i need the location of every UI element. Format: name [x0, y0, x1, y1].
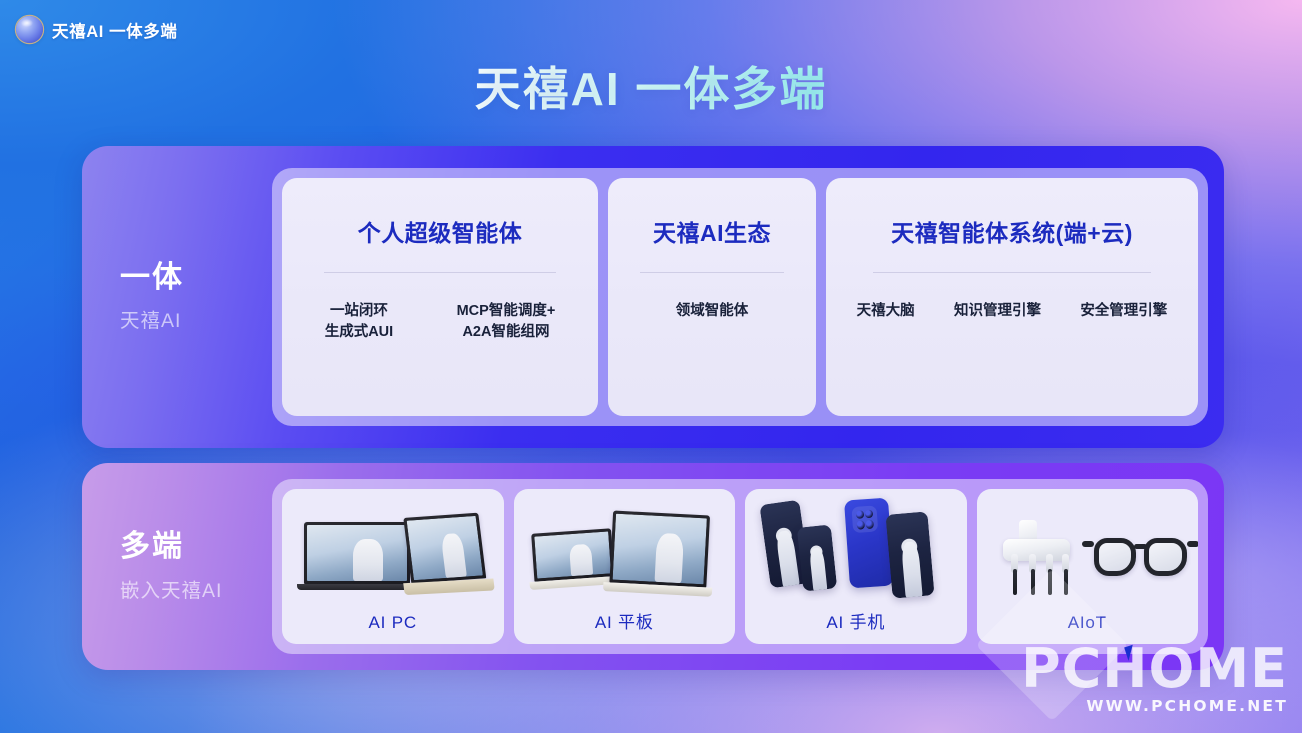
feature-card-items: 一站闭环 生成式AUI MCP智能调度+ A2A智能组网: [298, 301, 582, 343]
device-card-tray: AI PC AI 平板: [272, 479, 1208, 654]
device-card-aiot[interactable]: AIoT: [977, 489, 1199, 644]
feature-card-ai-ecosystem[interactable]: 天禧AI生态 领域智能体: [608, 178, 816, 416]
panel-devices-label-main: 多端: [120, 530, 272, 565]
brand-title: 天禧AI 一体多端: [52, 18, 177, 42]
device-card-ai-phone[interactable]: AI 手机: [745, 489, 967, 644]
panel-devices-label: 多端 嵌入天禧AI: [82, 530, 272, 603]
sphere-orb-icon: [16, 16, 43, 43]
feature-card-divider: [640, 272, 784, 273]
feature-card-items: 领域智能体: [624, 301, 800, 322]
feature-card-tray: 个人超级智能体 一站闭环 生成式AUI MCP智能调度+ A2A智能组网 天禧A…: [272, 168, 1208, 426]
feature-item: 天禧大脑: [857, 301, 915, 322]
device-card-label: AI 手机: [826, 608, 885, 633]
panel-devices: 多端 嵌入天禧AI AI PC: [82, 463, 1224, 670]
panel-unified: 一体 天禧AI 个人超级智能体 一站闭环 生成式AUI MCP智能调度+ A2A…: [82, 146, 1224, 448]
feature-item: 安全管理引擎: [1080, 301, 1167, 322]
feature-card-title: 个人超级智能体: [358, 214, 523, 248]
phone-group-art: [745, 497, 967, 610]
feature-card-personal-agent[interactable]: 个人超级智能体 一站闭环 生成式AUI MCP智能调度+ A2A智能组网: [282, 178, 598, 416]
laptop-pair-art: [282, 497, 504, 610]
feature-card-agent-system[interactable]: 天禧智能体系统(端+云) 天禧大脑 知识管理引擎 安全管理引擎: [826, 178, 1198, 416]
device-card-label: AI PC: [369, 613, 417, 633]
page-header: 天禧AI 一体多端: [16, 16, 177, 43]
robot-dog-glasses-art: [977, 497, 1199, 610]
feature-card-divider: [324, 272, 557, 273]
panel-unified-label-sub: 天禧AI: [120, 304, 272, 333]
feature-card-title: 天禧AI生态: [653, 214, 771, 248]
feature-item: 一站闭环 生成式AUI: [325, 301, 393, 343]
feature-card-title: 天禧智能体系统(端+云): [891, 214, 1133, 248]
feature-item: MCP智能调度+ A2A智能组网: [457, 301, 556, 343]
panel-unified-label-main: 一体: [120, 261, 272, 296]
feature-item: 领域智能体: [676, 301, 749, 322]
feature-card-items: 天禧大脑 知识管理引擎 安全管理引擎: [842, 301, 1182, 322]
panel-unified-label: 一体 天禧AI: [82, 261, 272, 334]
device-card-ai-pc[interactable]: AI PC: [282, 489, 504, 644]
device-card-label: AI 平板: [595, 608, 654, 633]
feature-card-divider: [873, 272, 1152, 273]
device-card-label: AIoT: [1068, 613, 1107, 633]
tablet-pair-art: [514, 497, 736, 610]
page-title: 天禧AI 一体多端: [0, 53, 1302, 119]
feature-item: 知识管理引擎: [954, 301, 1041, 322]
device-card-ai-tablet[interactable]: AI 平板: [514, 489, 736, 644]
panel-devices-label-sub: 嵌入天禧AI: [120, 574, 272, 603]
